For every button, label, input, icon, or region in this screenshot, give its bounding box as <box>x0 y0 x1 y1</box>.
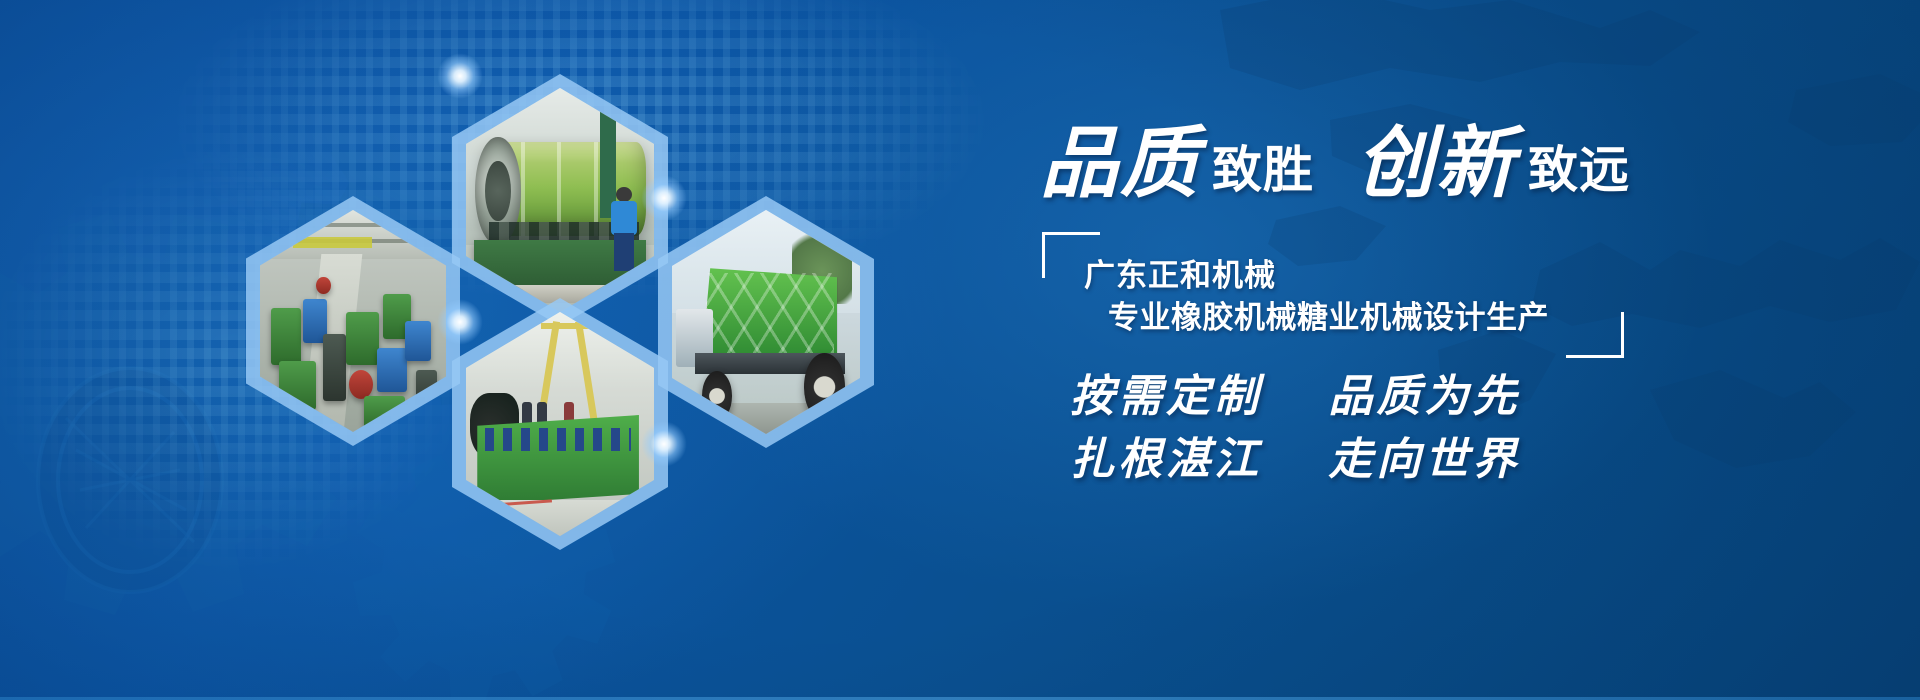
headline-part2-small: 致远 <box>1516 145 1634 201</box>
slogan-1-right: 品质为先 <box>1328 372 1520 421</box>
hex-photo-conveyor-tank[interactable] <box>452 298 668 550</box>
slogan-line-1: 按需定制 品质为先 <box>1070 360 1520 424</box>
hexagon-photo-collage <box>0 0 900 700</box>
headline-part1-small: 致胜 <box>1200 145 1318 201</box>
company-bracket-block: 广东正和机械 专业橡胶机械糖业机械设计生产 <box>1042 232 1602 352</box>
headline-part1-big: 品质 <box>1040 125 1200 201</box>
headline-part2-big: 创新 <box>1356 125 1516 201</box>
slogan-1-left: 按需定制 <box>1070 372 1262 421</box>
slogan-2-right: 走向世界 <box>1328 435 1520 484</box>
promo-banner: 品质 致胜 创新 致远 广东正和机械 专业橡胶机械糖业机械设计生产 按需定制 品… <box>0 0 1920 700</box>
company-description: 专业橡胶机械糖业机械设计生产 <box>1108 292 1549 337</box>
hex-photo-green-trailer[interactable] <box>658 196 874 448</box>
headline: 品质 致胜 创新 致远 <box>1040 125 1634 201</box>
bracket-bottom-right-icon <box>1566 312 1624 358</box>
slogan-2-left: 扎根湛江 <box>1070 435 1262 484</box>
slogan-line-2: 扎根湛江 走向世界 <box>1070 423 1520 487</box>
company-name: 广东正和机械 <box>1084 250 1276 295</box>
banner-copy: 品质 致胜 创新 致远 广东正和机械 专业橡胶机械糖业机械设计生产 按需定制 品… <box>1020 0 1920 700</box>
hex-photo-production-line[interactable] <box>246 196 460 446</box>
hex-photo-rotary-drum[interactable] <box>452 74 668 326</box>
